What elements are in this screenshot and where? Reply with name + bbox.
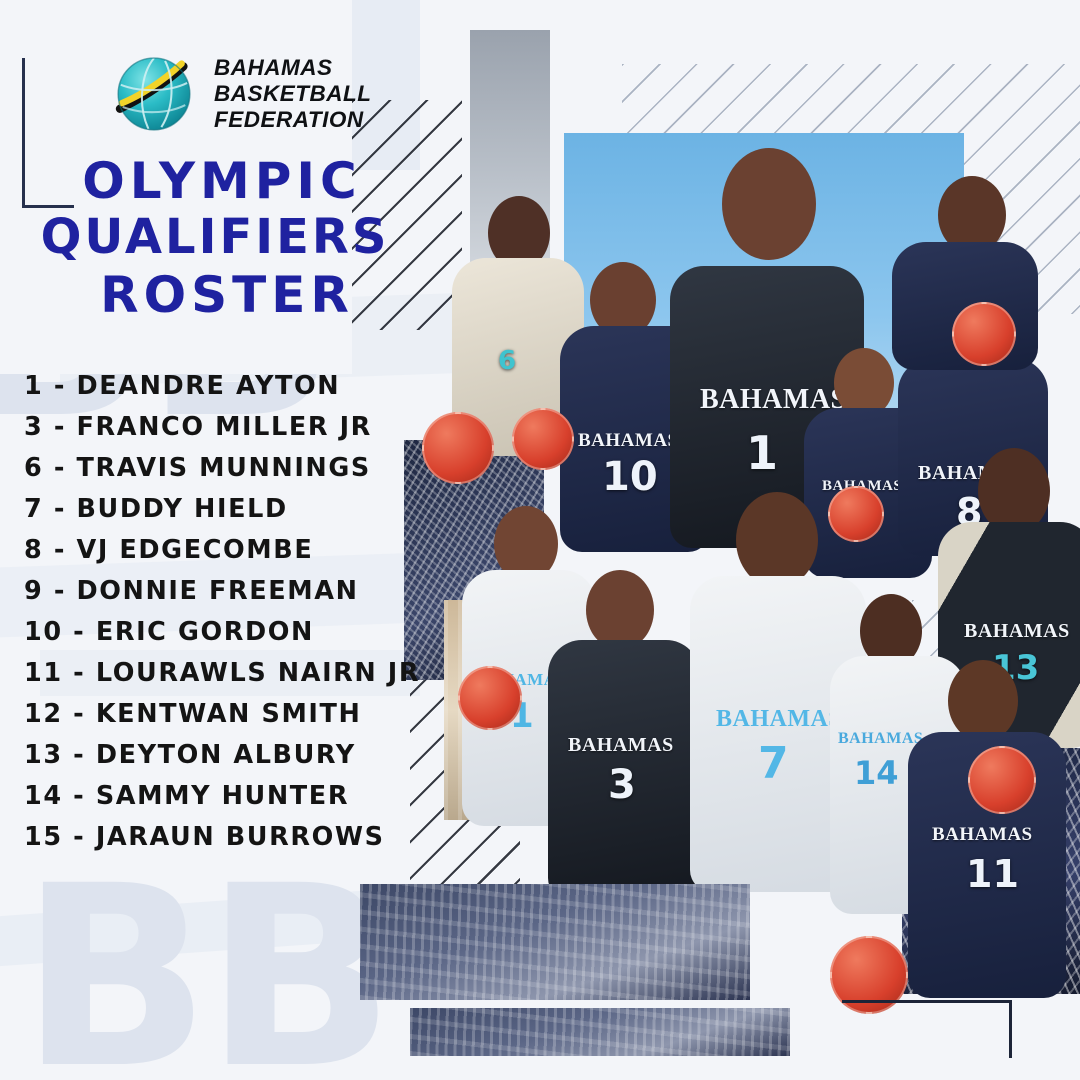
roster-item: 7 - BUDDY HIELD xyxy=(24,497,494,523)
jersey-number: 14 xyxy=(854,754,899,792)
roster-item: 9 - DONNIE FREEMAN xyxy=(24,579,494,605)
basketball-icon xyxy=(828,486,884,542)
page-title: OLYMPIC QUALIFIERS ROSTER xyxy=(0,152,430,324)
fountain-photo-strip xyxy=(410,1008,790,1056)
jersey-number: 7 xyxy=(758,738,789,789)
roster-item: 8 - VJ EDGECOMBE xyxy=(24,538,494,564)
fountain-photo-strip xyxy=(360,884,750,1000)
jersey-wordmark: BAHAMAS xyxy=(568,734,674,757)
jersey-wordmark: BAHAMAS xyxy=(716,706,842,733)
roster-item: 1 - DEANDRE AYTON xyxy=(24,374,494,400)
roster-item: 6 - TRAVIS MUNNINGS xyxy=(24,456,494,482)
title-line-3: ROSTER xyxy=(0,266,430,324)
corner-bracket-bottom-right xyxy=(842,1000,1012,1058)
title-line-1: OLYMPIC xyxy=(0,152,430,210)
watermark-letters-bottom: BB xyxy=(20,880,389,1075)
bahamas-basketball-globe-icon xyxy=(108,48,200,140)
roster-item: 14 - SAMMY HUNTER xyxy=(24,784,494,810)
basketball-icon xyxy=(952,302,1016,366)
roster-list: 1 - DEANDRE AYTON 3 - FRANCO MILLER JR 6… xyxy=(24,374,494,866)
basketball-icon xyxy=(968,746,1036,814)
basketball-icon xyxy=(512,408,574,470)
roster-item: 15 - JARAUN BURROWS xyxy=(24,825,494,851)
poster-canvas: BB BB BB 6 BAHAMAS 10 xyxy=(0,0,1080,1080)
jersey-number: 3 xyxy=(608,762,636,808)
federation-name: BAHAMAS BASKETBALL FEDERATION xyxy=(214,55,372,134)
roster-item: 11 - LOURAWLS NAIRN JR xyxy=(24,661,494,687)
title-line-2: QUALIFIERS xyxy=(0,210,430,266)
roster-item: 10 - ERIC GORDON xyxy=(24,620,494,646)
jersey-number: 11 xyxy=(966,852,1019,896)
roster-item: 12 - KENTWAN SMITH xyxy=(24,702,494,728)
jersey-number: 6 xyxy=(498,346,516,376)
jersey-wordmark: BAHAMAS xyxy=(964,620,1070,643)
collage-player-burrows: BAHAMAS 11 xyxy=(908,660,1066,998)
jersey-number: 10 xyxy=(602,454,658,500)
collage-player-miller: BAHAMAS 3 xyxy=(548,570,700,900)
roster-item: 3 - FRANCO MILLER JR xyxy=(24,415,494,441)
jersey-wordmark: BAHAMAS xyxy=(932,824,1033,846)
jersey-number: 1 xyxy=(746,426,778,480)
roster-item: 13 - DEYTON ALBURY xyxy=(24,743,494,769)
federation-logo-lockup: BAHAMAS BASKETBALL FEDERATION xyxy=(108,48,372,140)
